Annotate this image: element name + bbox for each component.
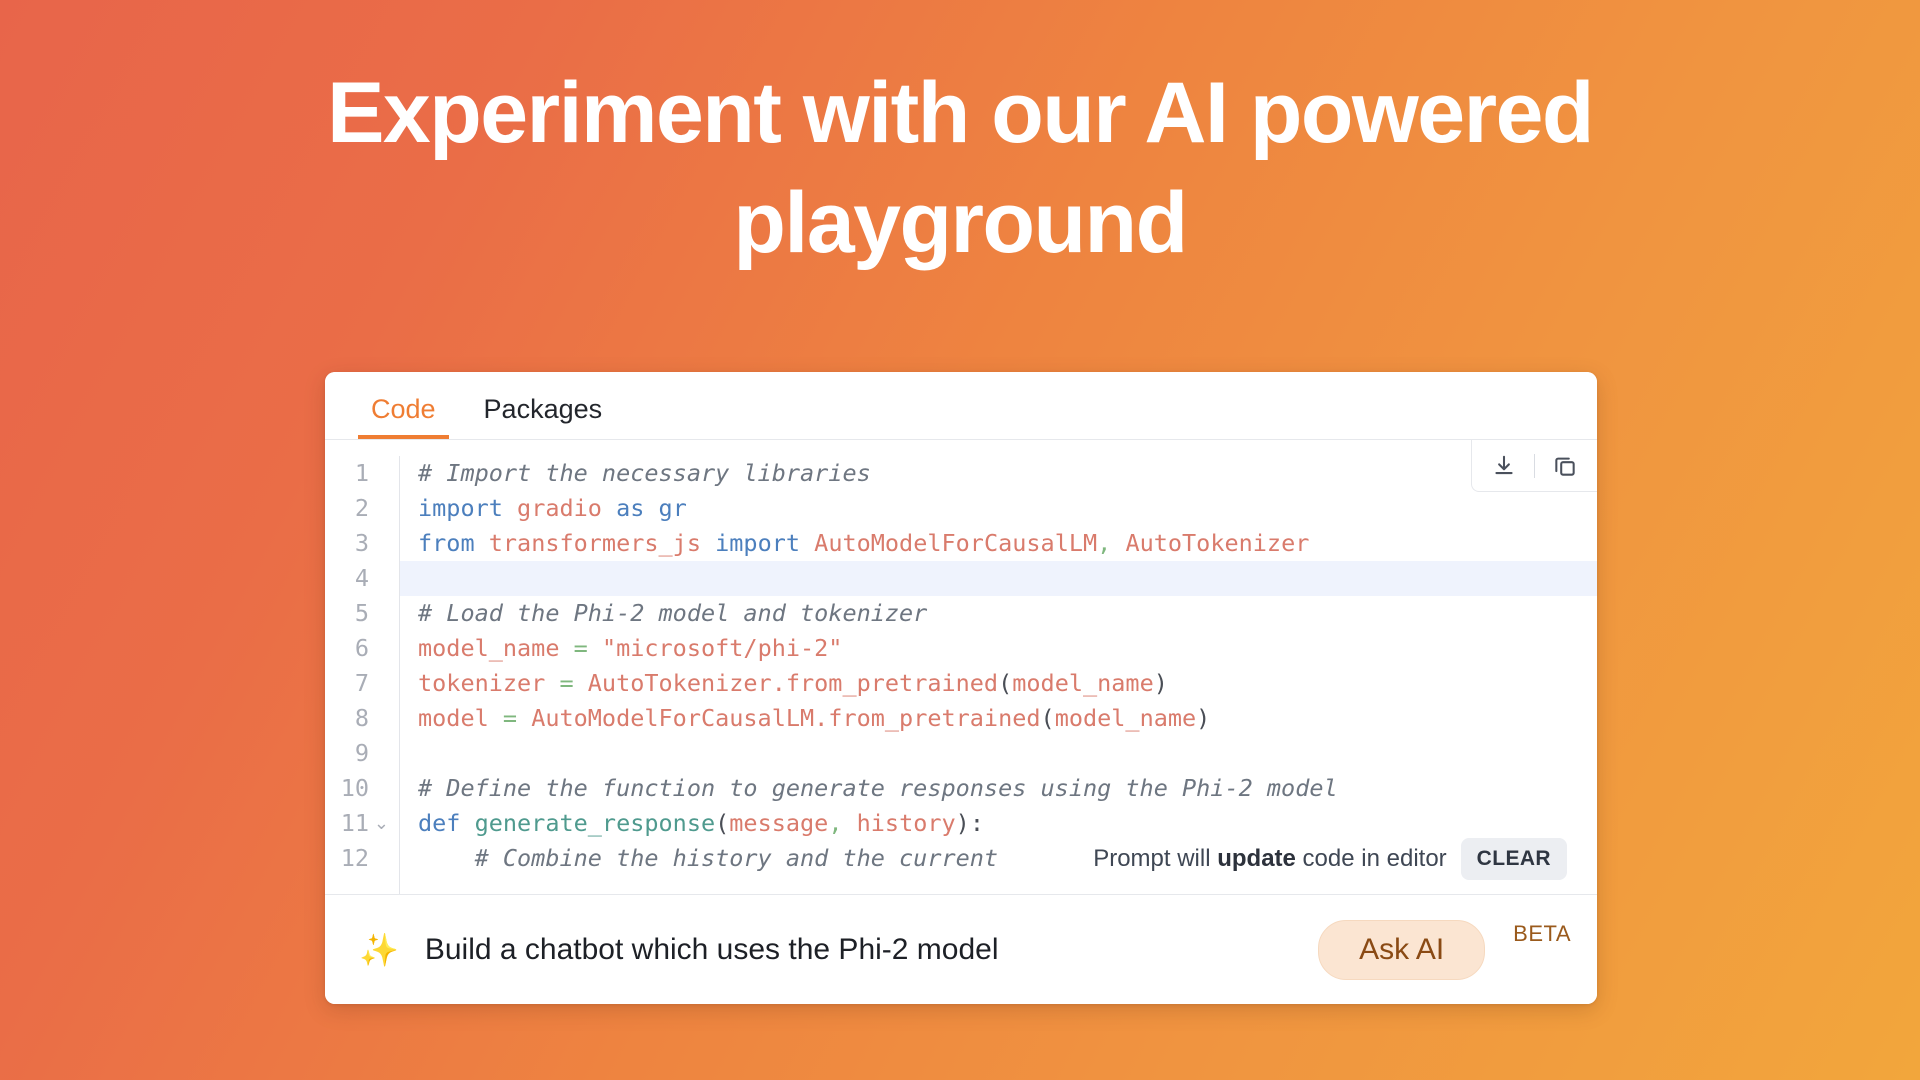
line-number: 1: [325, 456, 391, 491]
code-token: ): [1154, 669, 1168, 697]
tab-packages[interactable]: Packages: [471, 396, 616, 439]
code-line[interactable]: tokenizer = AutoTokenizer.from_pretraine…: [418, 666, 1552, 701]
line-number: 5: [325, 596, 391, 631]
line-number: 10: [325, 771, 391, 806]
code-token: (: [715, 809, 729, 837]
prompt-hint-text: Prompt will update code in editor: [1093, 845, 1446, 873]
playground-card: Code Packages 1234567891011⌄12 # Import …: [325, 372, 1597, 1004]
code-token: # Load the Phi-2 model and tokenizer: [418, 599, 927, 627]
line-number: 3: [325, 526, 391, 561]
code-token: =: [574, 634, 602, 662]
code-content[interactable]: # Import the necessary librariesimport g…: [399, 456, 1552, 894]
line-number: 4: [325, 561, 391, 596]
code-token: =: [503, 704, 531, 732]
code-token: (: [998, 669, 1012, 697]
chevron-down-icon[interactable]: ⌄: [374, 806, 389, 841]
code-line[interactable]: model = AutoModelForCausalLM.from_pretra…: [418, 701, 1552, 736]
code-editor-surface[interactable]: 1234567891011⌄12 # Import the necessary …: [325, 440, 1552, 894]
sparkles-icon: ✨: [359, 934, 399, 966]
code-token: ,: [1097, 529, 1111, 557]
code-token: as: [616, 494, 658, 522]
code-token: model_name: [418, 634, 574, 662]
code-token: from: [418, 529, 489, 557]
code-token: ,: [828, 809, 842, 837]
code-token: history: [842, 809, 955, 837]
code-token: model: [418, 704, 503, 732]
action-divider: [1534, 454, 1535, 478]
prompt-hint: Prompt will update code in editor CLEAR: [1075, 832, 1571, 886]
line-number-gutter: 1234567891011⌄12: [325, 456, 399, 894]
code-token: message: [729, 809, 828, 837]
code-line[interactable]: [400, 561, 1597, 596]
code-line[interactable]: from transformers_js import AutoModelFor…: [418, 526, 1552, 561]
code-token: def: [418, 809, 475, 837]
code-token: tokenizer: [418, 669, 559, 697]
ask-ai-button[interactable]: Ask AI: [1318, 920, 1485, 980]
line-number: 12: [325, 841, 391, 876]
copy-icon[interactable]: [1547, 448, 1583, 484]
code-token: import: [715, 529, 814, 557]
line-number: 9: [325, 736, 391, 771]
code-token: AutoTokenizer.from_pretrained: [588, 669, 998, 697]
code-token: ):: [956, 809, 984, 837]
code-token: ): [1196, 704, 1210, 732]
code-token: AutoModelForCausalLM.from_pretrained: [531, 704, 1040, 732]
tab-code[interactable]: Code: [358, 396, 449, 439]
code-token: model_name: [1055, 704, 1196, 732]
editor-action-bar: [1471, 440, 1597, 492]
page-title-line-2: playground: [0, 168, 1920, 278]
code-line[interactable]: import gradio as gr: [418, 491, 1552, 526]
code-token: gr: [659, 494, 687, 522]
code-token: import: [418, 494, 517, 522]
code-token: (: [1041, 704, 1055, 732]
code-token: model_name: [1012, 669, 1153, 697]
code-token: AutoModelForCausalLM: [814, 529, 1097, 557]
prompt-input[interactable]: [417, 927, 1300, 973]
code-line[interactable]: # Define the function to generate respon…: [418, 771, 1552, 806]
code-token: AutoTokenizer: [1111, 529, 1309, 557]
code-editor[interactable]: 1234567891011⌄12 # Import the necessary …: [325, 440, 1597, 894]
line-number: 2: [325, 491, 391, 526]
code-line[interactable]: # Load the Phi-2 model and tokenizer: [418, 596, 1552, 631]
code-token: # Combine the history and the current: [418, 844, 998, 872]
code-token: transformers_js: [489, 529, 715, 557]
download-icon[interactable]: [1486, 448, 1522, 484]
code-line[interactable]: [418, 736, 1552, 771]
code-token: =: [559, 669, 587, 697]
code-token: gradio: [517, 494, 616, 522]
code-token: "microsoft/phi-2": [602, 634, 843, 662]
code-token: generate_response: [475, 809, 716, 837]
page-title-line-1: Experiment with our AI powered: [0, 58, 1920, 168]
line-number: 8: [325, 701, 391, 736]
code-token: # Define the function to generate respon…: [418, 774, 1338, 802]
prompt-bar: ✨ Ask AI BETA: [325, 894, 1597, 1004]
tab-bar: Code Packages: [325, 372, 1597, 440]
code-line[interactable]: # Import the necessary libraries: [418, 456, 1552, 491]
page-title: Experiment with our AI powered playgroun…: [0, 58, 1920, 278]
line-number: 6: [325, 631, 391, 666]
code-line[interactable]: model_name = "microsoft/phi-2": [418, 631, 1552, 666]
line-number: 7: [325, 666, 391, 701]
line-number: 11⌄: [325, 806, 391, 841]
code-token: # Import the necessary libraries: [418, 459, 871, 487]
beta-badge: BETA: [1513, 921, 1571, 947]
clear-button[interactable]: CLEAR: [1461, 838, 1567, 880]
